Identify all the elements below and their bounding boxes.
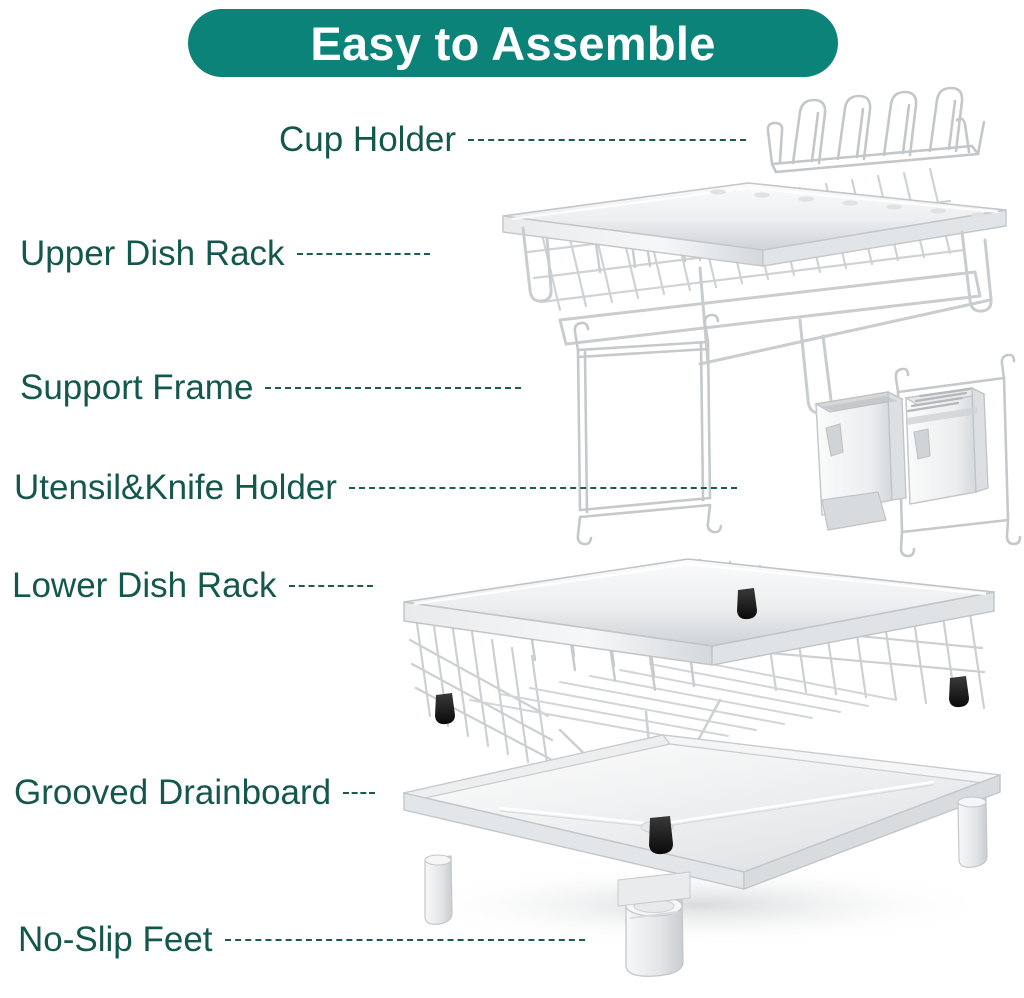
callout-label-lower-dish-rack: Lower Dish Rack (12, 568, 277, 603)
caddy-hanger-wire (896, 355, 1020, 556)
leader-line-no-slip-feet (225, 939, 585, 941)
no-slip-foot (425, 855, 452, 924)
leader-line-utensil-knife-holder (349, 487, 737, 489)
leader-line-cup-holder (468, 139, 746, 141)
no-slip-foot (958, 797, 987, 867)
lower-rack-rubber-foot (435, 588, 969, 724)
callout-label-utensil-knife-holder: Utensil&Knife Holder (14, 470, 337, 505)
callout-label-grooved-drainboard: Grooved Drainboard (14, 775, 331, 810)
callout-upper-dish-rack: Upper Dish Rack (20, 236, 430, 271)
title-banner: Easy to Assemble (188, 9, 838, 77)
callout-label-upper-dish-rack: Upper Dish Rack (20, 236, 285, 271)
callout-label-no-slip-feet: No-Slip Feet (18, 922, 213, 957)
grooved-drainboard-component (400, 735, 1000, 947)
lower-dish-rack-component (404, 559, 994, 818)
callout-label-cup-holder: Cup Holder (279, 122, 456, 157)
cup-holder-component (768, 88, 984, 172)
support-frame-component (575, 315, 721, 544)
callout-grooved-drainboard: Grooved Drainboard (14, 775, 375, 810)
page-title: Easy to Assemble (310, 20, 715, 67)
callout-cup-holder: Cup Holder (279, 122, 746, 157)
leader-line-grooved-drainboard (343, 792, 375, 794)
upper-dish-rack-component (503, 169, 1006, 413)
callout-no-slip-feet: No-Slip Feet (18, 922, 585, 957)
callout-lower-dish-rack: Lower Dish Rack (12, 568, 373, 603)
callout-support-frame: Support Frame (20, 370, 521, 405)
leader-line-lower-dish-rack (289, 585, 373, 587)
infographic-canvas: Easy to Assemble (0, 0, 1024, 998)
utensil-knife-holder-component (816, 388, 988, 530)
callout-label-support-frame: Support Frame (20, 370, 253, 405)
leader-line-upper-dish-rack (297, 253, 430, 255)
callout-utensil-knife-holder: Utensil&Knife Holder (14, 470, 737, 505)
leader-line-support-frame (265, 387, 521, 389)
no-slip-foot (626, 896, 683, 976)
